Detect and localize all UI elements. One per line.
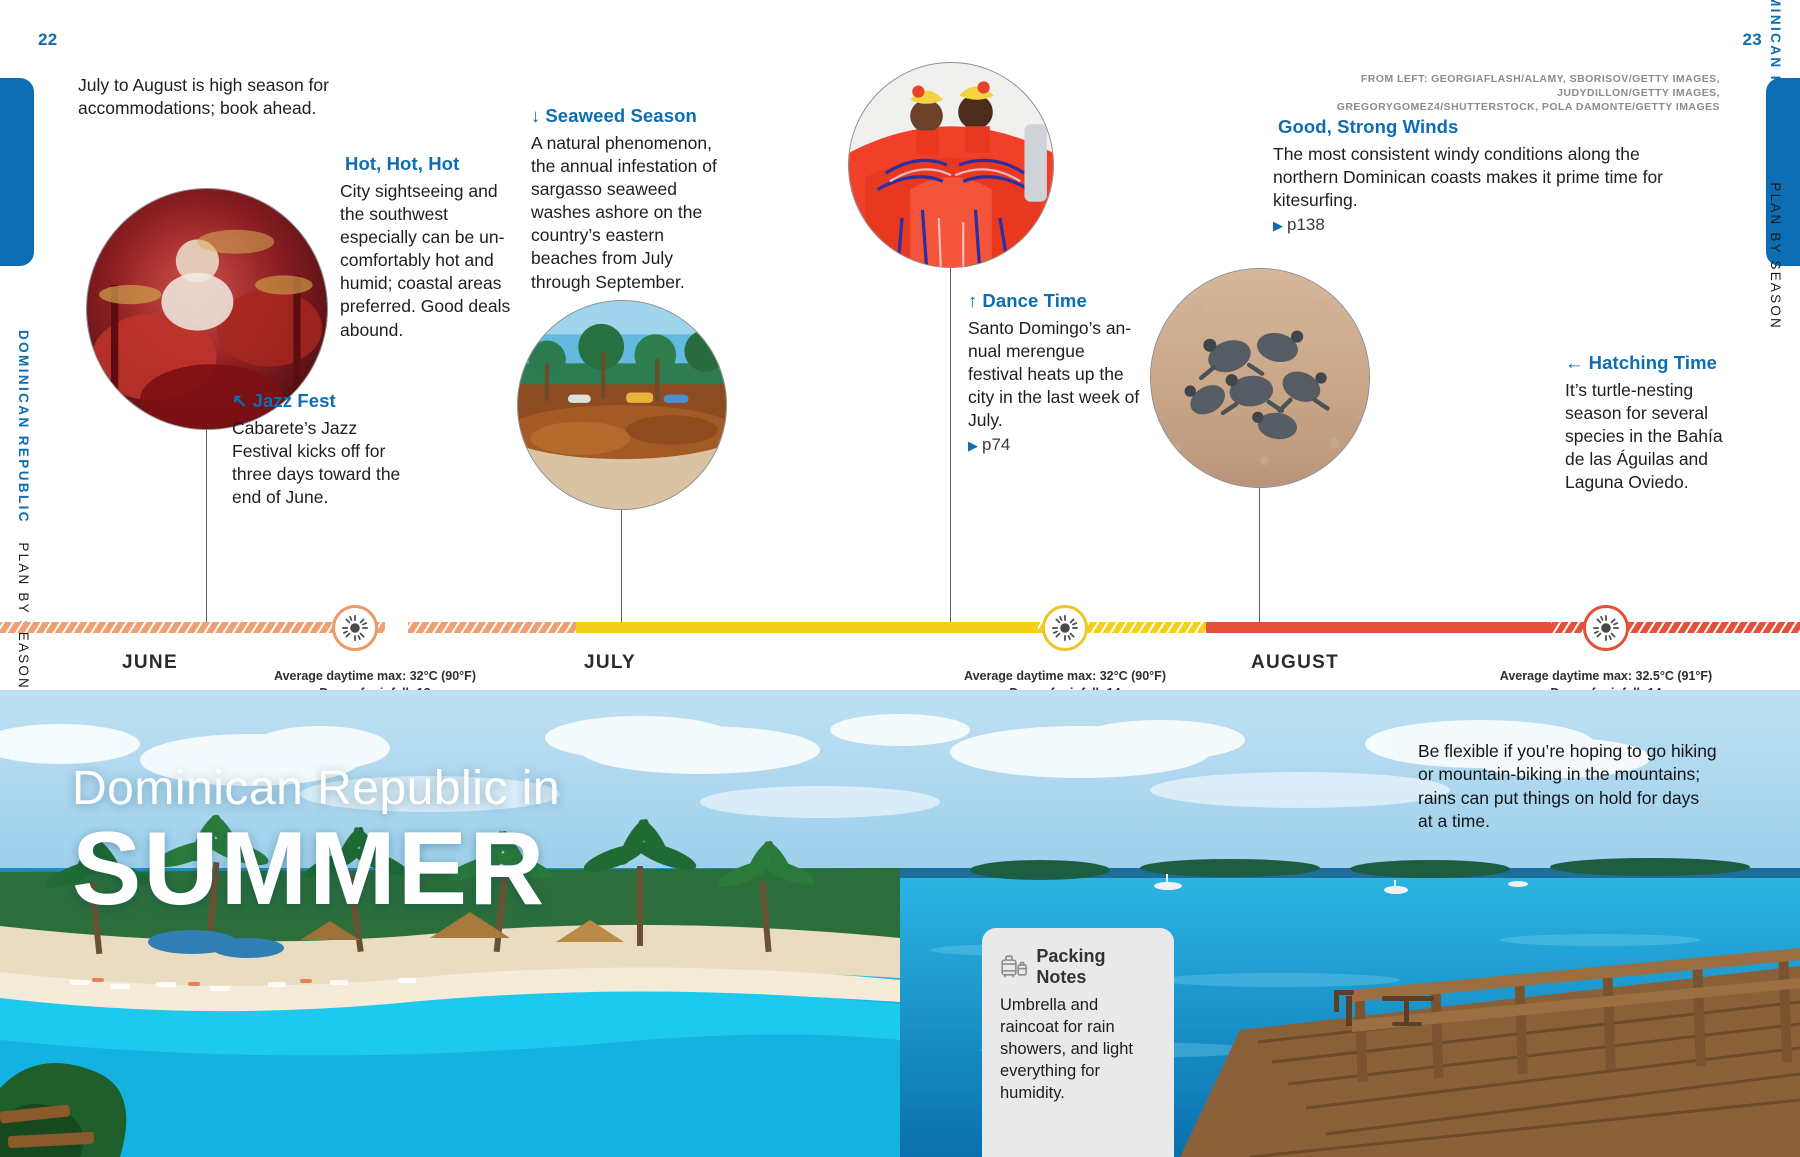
intro-note: July to August is high season for accomm… xyxy=(78,74,340,120)
sun-icon xyxy=(341,614,369,642)
entry-dance-time-page-ref[interactable]: ▶p74 xyxy=(968,435,1143,455)
entry-hot-hot-hot-title-text: Hot, Hot, Hot xyxy=(345,153,459,174)
leader-line-drummer xyxy=(206,430,207,622)
entry-hatching-time-arrow-icon: ← xyxy=(1565,352,1584,374)
running-head-left-sub: PLAN BY SEASON xyxy=(16,542,31,690)
timeline-segment-august xyxy=(1206,622,1551,633)
entry-good-strong-winds-page-ref[interactable]: ▶p138 xyxy=(1273,215,1693,235)
packing-notes-title: Packing Notes xyxy=(1000,946,1158,988)
packing-notes-body: Umbrella and raincoat for rain showers, … xyxy=(1000,995,1158,1105)
entry-hatching-time-body: It’s turtle-nesting season for several s… xyxy=(1565,379,1743,494)
leader-line-turtles xyxy=(1259,488,1260,622)
entry-dance-time-body: Santo Domingo’s an-nual merengue festiva… xyxy=(968,317,1143,432)
photo-credits: FROM LEFT: GEORGIAFLASH/ALAMY, SBORISOV/… xyxy=(1250,73,1720,115)
stat-august-avg: Average daytime max: 32.5°C (91°F) xyxy=(1486,668,1726,685)
running-head-right-main: DOMINICAN REPUBLIC xyxy=(1768,0,1783,164)
entry-jazz-fest-body: Cabarete’s Jazz Festival kicks off for t… xyxy=(232,417,420,509)
running-head-left-main: DOMINICAN REPUBLIC xyxy=(16,330,31,524)
entry-hatching-time-title: ←Hatching Time xyxy=(1565,352,1743,374)
seaweed-beach-photo xyxy=(517,300,727,510)
hero-panel: Dominican Republic in SUMMER Be flexible… xyxy=(0,690,1800,1157)
spread-page: 22 23 DOMINICAN REPUBLIC PLAN BY SEASON … xyxy=(0,0,1800,1157)
entry-hot-hot-hot-title: Hot, Hot, Hot xyxy=(340,153,520,175)
turtle-hatchlings-photo-art xyxy=(1151,269,1369,487)
entry-good-strong-winds: Good, Strong Winds The most consistent w… xyxy=(1273,116,1693,235)
packing-notes-card: Packing Notes Umbrella and raincoat for … xyxy=(982,928,1174,1157)
entry-jazz-fest-title-text: Jazz Fest xyxy=(253,390,336,411)
entry-seaweed-season-arrow-icon: ↓ xyxy=(531,105,540,127)
timeline-marker-august[interactable] xyxy=(1583,605,1629,651)
folio-left: 22 xyxy=(38,30,58,50)
entry-hot-hot-hot-body: City sightseeing and the southwest espec… xyxy=(340,180,520,342)
leader-line-dancers xyxy=(950,268,951,622)
timeline-segment-june-hatched xyxy=(0,622,385,633)
entry-seaweed-season: ↓Seaweed Season A natural phenomenon, th… xyxy=(531,105,721,294)
stat-june-avg: Average daytime max: 32°C (90°F) xyxy=(255,668,495,685)
entry-seaweed-season-title: ↓Seaweed Season xyxy=(531,105,721,127)
leader-line-seaweed xyxy=(621,510,622,622)
photo-credits-line1: FROM LEFT: GEORGIAFLASH/ALAMY, SBORISOV/… xyxy=(1250,73,1720,101)
entry-good-strong-winds-title: Good, Strong Winds xyxy=(1273,116,1693,138)
month-label-august: AUGUST xyxy=(1205,652,1385,674)
edge-tab-left xyxy=(0,78,34,266)
luggage-icon xyxy=(1000,954,1029,980)
entry-hot-hot-hot: Hot, Hot, Hot City sightseeing and the s… xyxy=(340,153,520,342)
running-head-left: DOMINICAN REPUBLIC PLAN BY SEASON xyxy=(16,330,31,690)
entry-hatching-time-title-text: Hatching Time xyxy=(1589,352,1717,373)
entry-good-strong-winds-body: The most consistent windy conditions alo… xyxy=(1273,143,1693,212)
entry-dance-time-title: ↑Dance Time xyxy=(968,290,1143,312)
packing-notes-title-text: Packing Notes xyxy=(1036,946,1158,988)
entry-seaweed-season-body: A natural phenomenon, the annual infesta… xyxy=(531,132,721,294)
running-head-right: DOMINICAN REPUBLIC PLAN BY SEASON xyxy=(1768,0,1783,330)
timeline-segment-june-hatched-2 xyxy=(408,622,576,633)
month-label-july: JULY xyxy=(520,652,700,674)
stat-july-avg: Average daytime max: 32°C (90°F) xyxy=(945,668,1185,685)
entry-jazz-fest-title: ↖Jazz Fest xyxy=(232,390,420,412)
folio-right: 23 xyxy=(1742,30,1762,50)
entry-good-strong-winds-page-ref-text: p138 xyxy=(1287,215,1325,234)
merengue-dancers-photo-art xyxy=(849,63,1053,267)
entry-good-strong-winds-title-text: Good, Strong Winds xyxy=(1278,116,1458,137)
entry-jazz-fest: ↖Jazz Fest Cabarete’s Jazz Festival kick… xyxy=(232,390,420,509)
entry-hatching-time: ←Hatching Time It’s turtle-nesting seaso… xyxy=(1565,352,1743,494)
seaweed-beach-photo-art xyxy=(518,301,726,509)
entry-jazz-fest-arrow-icon: ↖ xyxy=(232,390,248,412)
merengue-dancers-photo xyxy=(848,62,1054,268)
entry-dance-time-arrow-icon: ↑ xyxy=(968,290,977,312)
timeline-marker-july[interactable] xyxy=(1042,605,1088,651)
page-ref-triangle-icon: ▶ xyxy=(1273,218,1283,233)
sun-icon xyxy=(1592,614,1620,642)
entry-dance-time: ↑Dance Time Santo Domingo’s an-nual mere… xyxy=(968,290,1143,455)
entry-dance-time-title-text: Dance Time xyxy=(982,290,1087,311)
season-timeline xyxy=(0,622,1800,634)
photo-credits-line2: GREGORYGOMEZ4/SHUTTERSTOCK, POLA DAMONTE… xyxy=(1250,101,1720,115)
timeline-segment-july xyxy=(576,622,1038,633)
hero-note: Be flexible if you’re hoping to go hikin… xyxy=(1418,740,1718,834)
timeline-marker-june[interactable] xyxy=(332,605,378,651)
running-head-right-sub: PLAN BY SEASON xyxy=(1768,182,1783,330)
turtle-hatchlings-photo xyxy=(1150,268,1370,488)
sun-icon xyxy=(1051,614,1079,642)
page-ref-triangle-icon: ▶ xyxy=(968,438,978,453)
month-label-june: JUNE xyxy=(60,652,240,674)
entry-dance-time-page-ref-text: p74 xyxy=(982,435,1010,454)
entry-seaweed-season-title-text: Seaweed Season xyxy=(545,105,697,126)
